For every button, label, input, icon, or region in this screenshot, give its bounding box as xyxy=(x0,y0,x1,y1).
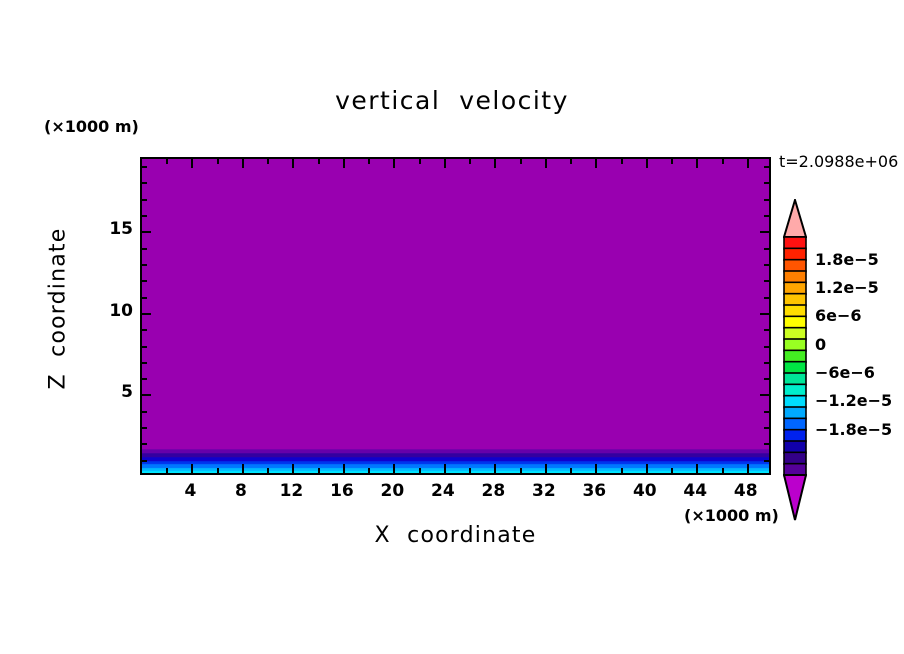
tick-mark xyxy=(764,329,769,331)
figure-canvas: vertical velocity (×1000 m) t=2.0988e+06… xyxy=(0,0,904,654)
tick-mark xyxy=(142,215,147,217)
tick-mark xyxy=(671,468,673,473)
tick-mark xyxy=(142,264,147,266)
tick-mark xyxy=(217,468,219,473)
tick-mark xyxy=(292,159,294,168)
colorbar-tick-label: −1.2e−5 xyxy=(815,391,892,410)
tick-mark xyxy=(142,199,147,201)
tick-mark xyxy=(393,159,395,168)
tick-mark xyxy=(545,464,547,473)
tick-mark xyxy=(764,378,769,380)
tick-mark xyxy=(760,394,769,396)
tick-mark xyxy=(267,468,269,473)
y-tick-label: 5 xyxy=(73,382,133,402)
tick-mark xyxy=(142,443,147,445)
y-axis-unit-label: (×1000 m) xyxy=(44,117,139,136)
tick-mark xyxy=(494,464,496,473)
tick-mark xyxy=(764,166,769,168)
x-tick-label: 48 xyxy=(716,481,776,501)
tick-mark xyxy=(444,159,446,168)
colorbar-tick-label: −1.8e−5 xyxy=(815,420,892,439)
colorbar[interactable] xyxy=(783,199,807,521)
tick-mark xyxy=(764,346,769,348)
tick-mark xyxy=(142,411,147,413)
y-tick-label: 15 xyxy=(73,219,133,239)
colorbar-tick-label: 0 xyxy=(815,335,826,354)
tick-mark xyxy=(764,297,769,299)
y-tick-label: 10 xyxy=(73,301,133,321)
time-annotation: t=2.0988e+06 xyxy=(779,152,898,171)
tick-mark xyxy=(242,464,244,473)
tick-mark xyxy=(267,159,269,164)
tick-mark xyxy=(722,159,724,164)
tick-mark xyxy=(166,159,168,164)
tick-mark xyxy=(419,159,421,164)
tick-mark xyxy=(444,464,446,473)
y-axis-title: Z coordinate xyxy=(46,179,71,439)
tick-mark xyxy=(595,464,597,473)
tick-mark xyxy=(142,329,147,331)
tick-mark xyxy=(570,468,572,473)
tick-mark xyxy=(142,280,147,282)
tick-mark xyxy=(764,411,769,413)
tick-mark xyxy=(621,159,623,164)
tick-mark xyxy=(142,231,151,233)
tick-mark xyxy=(764,264,769,266)
tick-mark xyxy=(520,468,522,473)
tick-mark xyxy=(764,182,769,184)
tick-mark xyxy=(671,159,673,164)
tick-mark xyxy=(318,468,320,473)
tick-mark xyxy=(646,159,648,168)
x-axis-title: X coordinate xyxy=(140,523,771,548)
y-axis-tick-labels: 51015 xyxy=(65,157,133,475)
tick-mark xyxy=(419,468,421,473)
tick-mark xyxy=(166,468,168,473)
tick-mark xyxy=(764,362,769,364)
tick-mark xyxy=(142,394,151,396)
tick-mark xyxy=(343,464,345,473)
tick-mark xyxy=(696,464,698,473)
tick-mark xyxy=(520,159,522,164)
plot-area[interactable] xyxy=(140,157,771,475)
tick-mark xyxy=(217,159,219,164)
colorbar-tick-label: −6e−6 xyxy=(815,363,875,382)
tick-mark xyxy=(393,464,395,473)
tick-mark xyxy=(764,443,769,445)
tick-mark xyxy=(142,427,147,429)
tick-mark xyxy=(760,313,769,315)
tick-mark xyxy=(142,297,147,299)
tick-mark xyxy=(142,182,147,184)
tick-mark xyxy=(469,159,471,164)
tick-mark xyxy=(764,460,769,462)
tick-mark xyxy=(696,159,698,168)
tick-mark xyxy=(142,248,147,250)
tick-mark xyxy=(368,468,370,473)
velocity-field-image xyxy=(142,159,769,473)
tick-mark xyxy=(764,199,769,201)
tick-mark xyxy=(545,159,547,168)
tick-mark xyxy=(764,215,769,217)
tick-mark xyxy=(142,362,147,364)
colorbar-tick-label: 1.2e−5 xyxy=(815,278,879,297)
tick-mark xyxy=(142,460,147,462)
tick-mark xyxy=(191,159,193,168)
tick-mark xyxy=(764,248,769,250)
tick-mark xyxy=(142,346,147,348)
tick-mark xyxy=(242,159,244,168)
tick-mark xyxy=(142,313,151,315)
colorbar-graphic xyxy=(783,199,807,521)
tick-mark xyxy=(722,468,724,473)
page-title: vertical velocity xyxy=(0,86,904,115)
tick-mark xyxy=(747,464,749,473)
tick-mark xyxy=(764,427,769,429)
tick-mark xyxy=(469,468,471,473)
tick-mark xyxy=(191,464,193,473)
colorbar-tick-label: 6e−6 xyxy=(815,306,862,325)
tick-mark xyxy=(318,159,320,164)
tick-mark xyxy=(142,166,147,168)
tick-mark xyxy=(760,231,769,233)
colorbar-tick-label: 1.8e−5 xyxy=(815,250,879,269)
tick-mark xyxy=(764,280,769,282)
tick-mark xyxy=(292,464,294,473)
tick-mark xyxy=(343,159,345,168)
tick-mark xyxy=(368,159,370,164)
tick-mark xyxy=(570,159,572,164)
tick-mark xyxy=(747,159,749,168)
tick-mark xyxy=(646,464,648,473)
tick-mark xyxy=(621,468,623,473)
tick-mark xyxy=(494,159,496,168)
tick-mark xyxy=(142,378,147,380)
tick-mark xyxy=(595,159,597,168)
